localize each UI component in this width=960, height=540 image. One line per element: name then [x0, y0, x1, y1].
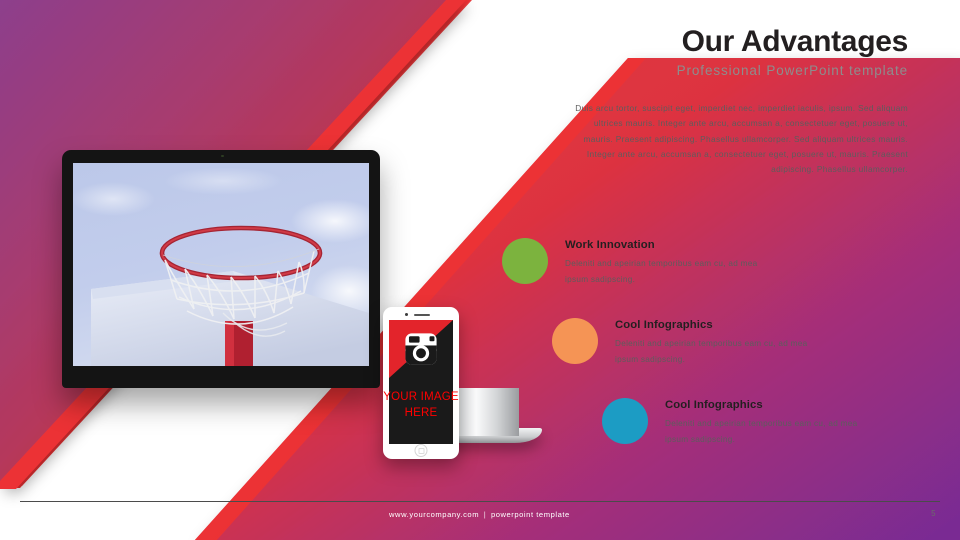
- earpiece-speaker-icon: [414, 314, 430, 317]
- page-title: Our Advantages: [438, 26, 908, 58]
- camera-icon: [404, 332, 438, 366]
- home-button-icon[interactable]: [415, 444, 428, 457]
- monitor-power-led-icon: [221, 155, 224, 157]
- phone-screen: YOUR IMAGE HERE: [389, 320, 453, 444]
- front-camera-icon: [405, 313, 408, 316]
- slide-header: Our Advantages Professional PowerPoint t…: [438, 26, 908, 78]
- footer-website[interactable]: www.yourcompany.com: [389, 510, 479, 519]
- caption-line-1: YOUR IMAGE: [380, 390, 462, 406]
- footer-divider: [20, 501, 940, 502]
- phone-placeholder-caption: YOUR IMAGE HERE: [380, 390, 462, 421]
- feature-item-cool-infographics-1[interactable]: Cool Infographics Deleniti and apeirian …: [552, 316, 830, 368]
- page-subtitle: Professional PowerPoint template: [438, 63, 908, 78]
- teal-circle-icon: [602, 398, 648, 444]
- feature-title: Work Innovation: [565, 239, 780, 251]
- footer-separator: |: [484, 510, 487, 519]
- page-number: 5: [931, 509, 936, 518]
- footer-tagline: powerpoint template: [491, 510, 570, 519]
- intro-paragraph: Duis arcu tortor, suscipit eget, imperdi…: [563, 101, 908, 178]
- phone-app-tile[interactable]: [389, 320, 453, 378]
- basketball-hoop-photo: [73, 163, 369, 366]
- feature-title: Cool Infographics: [615, 319, 830, 331]
- footer-credit: www.yourcompany.com | powerpoint templat…: [389, 510, 570, 519]
- desktop-monitor-mockup: [62, 150, 380, 388]
- feature-description: Deleniti and apeirian temporibus eam cu,…: [615, 336, 830, 368]
- slide-canvas: Our Advantages Professional PowerPoint t…: [0, 0, 960, 540]
- smartphone-mockup: YOUR IMAGE HERE: [383, 307, 459, 459]
- green-circle-icon: [502, 238, 548, 284]
- feature-item-cool-infographics-2[interactable]: Cool Infographics Deleniti and apeirian …: [602, 396, 880, 448]
- feature-description: Deleniti and apeirian temporibus eam cu,…: [665, 416, 880, 448]
- caption-line-2: HERE: [380, 406, 462, 422]
- monitor-screen: [73, 163, 369, 366]
- feature-description: Deleniti and apeirian temporibus eam cu,…: [565, 256, 780, 288]
- feature-title: Cool Infographics: [665, 399, 880, 411]
- feature-item-work-innovation[interactable]: Work Innovation Deleniti and apeirian te…: [502, 236, 780, 288]
- orange-circle-icon: [552, 318, 598, 364]
